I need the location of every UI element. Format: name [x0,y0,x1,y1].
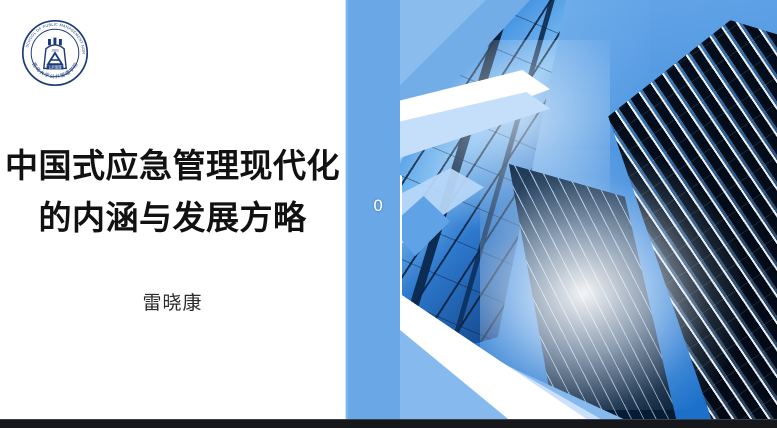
author-name: 雷晓康 [0,288,345,315]
presentation-title-slide: 0 SCHOOL OF PUBLIC MANAGEMENT NORTHWEST … [0,0,777,428]
overlay-zero-mark: 0 [373,196,383,215]
title-line-2: 的内涵与发展方略 [0,192,345,244]
university-logo: SCHOOL OF PUBLIC MANAGEMENT NORTHWEST UN… [20,18,90,88]
bottom-bar [0,419,777,428]
page-title: 中国式应急管理现代化 的内涵与发展方略 [0,140,345,244]
bottom-bar-highlight [0,419,777,420]
title-line-1: 中国式应急管理现代化 [0,140,345,192]
university-emblem-icon: SCHOOL OF PUBLIC MANAGEMENT NORTHWEST UN… [20,18,90,88]
cloud-highlight-center [480,150,740,410]
svg-text:公共管理: 公共管理 [49,65,63,70]
title-slide-photo: 0 [330,0,777,420]
